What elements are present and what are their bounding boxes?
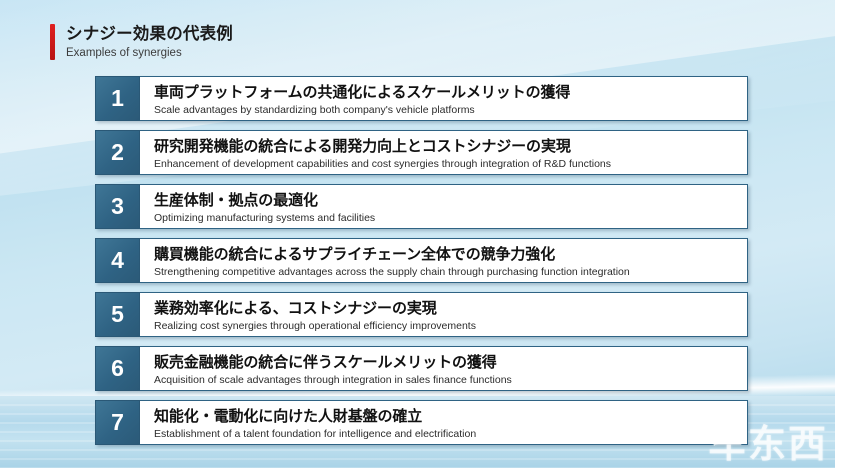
synergy-row-number: 2 [95, 130, 140, 175]
synergy-row-number: 6 [95, 346, 140, 391]
synergy-list: 1車両プラットフォームの共通化によるスケールメリットの獲得Scale advan… [95, 76, 748, 454]
synergy-row-number: 4 [95, 238, 140, 283]
synergy-row-title-en: Establishment of a talent foundation for… [154, 428, 747, 441]
synergy-row-number: 7 [95, 400, 140, 445]
synergy-row-title-jp: 生産体制・拠点の最適化 [154, 192, 747, 210]
synergy-row-number: 5 [95, 292, 140, 337]
synergy-row-title-jp: 知能化・電動化に向けた人財基盤の確立 [154, 408, 747, 426]
synergy-row: 3生産体制・拠点の最適化Optimizing manufacturing sys… [95, 184, 748, 229]
slide-title-block: シナジー効果の代表例 Examples of synergies [50, 24, 233, 60]
synergy-row: 5業務効率化による、コストシナジーの実現Realizing cost syner… [95, 292, 748, 337]
synergy-row-number: 3 [95, 184, 140, 229]
title-accent-bar [50, 24, 55, 60]
synergy-row-number: 1 [95, 76, 140, 121]
synergy-row-title-en: Acquisition of scale advantages through … [154, 374, 747, 387]
synergy-row: 1車両プラットフォームの共通化によるスケールメリットの獲得Scale advan… [95, 76, 748, 121]
synergy-row: 7知能化・電動化に向けた人財基盤の確立Establishment of a ta… [95, 400, 748, 445]
synergy-row-panel: 業務効率化による、コストシナジーの実現Realizing cost synerg… [140, 292, 748, 337]
synergy-row-title-jp: 購買機能の統合によるサプライチェーン全体での競争力強化 [154, 246, 747, 264]
synergy-row-title-en: Optimizing manufacturing systems and fac… [154, 212, 747, 225]
synergy-row-title-jp: 業務効率化による、コストシナジーの実現 [154, 300, 747, 318]
synergy-row-panel: 知能化・電動化に向けた人財基盤の確立Establishment of a tal… [140, 400, 748, 445]
synergy-row: 4購買機能の統合によるサプライチェーン全体での競争力強化Strengthenin… [95, 238, 748, 283]
synergy-row-panel: 生産体制・拠点の最適化Optimizing manufacturing syst… [140, 184, 748, 229]
synergy-row-title-en: Enhancement of development capabilities … [154, 158, 747, 171]
synergy-row: 6販売金融機能の統合に伴うスケールメリットの獲得Acquisition of s… [95, 346, 748, 391]
synergy-row-panel: 車両プラットフォームの共通化によるスケールメリットの獲得Scale advant… [140, 76, 748, 121]
synergy-row-panel: 購買機能の統合によるサプライチェーン全体での競争力強化Strengthening… [140, 238, 748, 283]
synergy-row-title-jp: 販売金融機能の統合に伴うスケールメリットの獲得 [154, 354, 747, 372]
synergy-row-title-jp: 車両プラットフォームの共通化によるスケールメリットの獲得 [154, 84, 747, 102]
page-title: シナジー効果の代表例 [66, 24, 233, 45]
synergy-row-title-jp: 研究開発機能の統合による開発力向上とコストシナジーの実現 [154, 138, 747, 156]
synergy-row-panel: 研究開発機能の統合による開発力向上とコストシナジーの実現Enhancement … [140, 130, 748, 175]
synergy-row: 2研究開発機能の統合による開発力向上とコストシナジーの実現Enhancement… [95, 130, 748, 175]
synergy-row-panel: 販売金融機能の統合に伴うスケールメリットの獲得Acquisition of sc… [140, 346, 748, 391]
synergy-row-title-en: Scale advantages by standardizing both c… [154, 104, 747, 117]
right-edge-margin [835, 0, 850, 468]
title-text-wrapper: シナジー効果の代表例 Examples of synergies [66, 24, 233, 60]
synergy-row-title-en: Strengthening competitive advantages acr… [154, 266, 747, 279]
synergy-row-title-en: Realizing cost synergies through operati… [154, 320, 747, 333]
page-subtitle: Examples of synergies [66, 47, 233, 61]
slide-canvas: シナジー効果の代表例 Examples of synergies 1車両プラット… [0, 0, 850, 468]
